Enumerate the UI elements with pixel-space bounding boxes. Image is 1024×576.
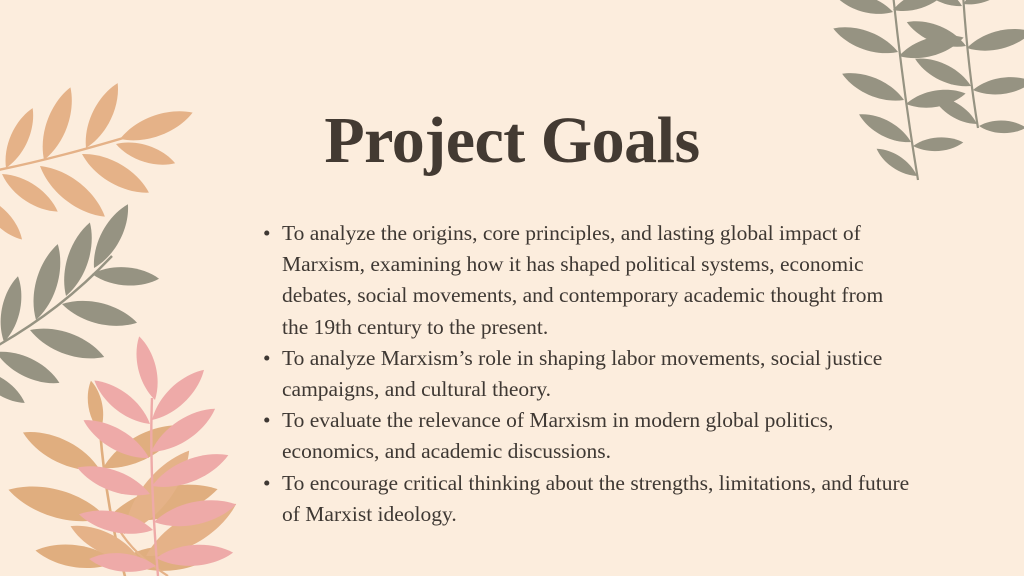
list-item: • To analyze Marxism’s role in shaping l…: [258, 343, 910, 405]
list-item-text: To analyze Marxism’s role in shaping lab…: [282, 346, 882, 401]
page-title: Project Goals: [0, 103, 1024, 179]
list-item: • To encourage critical thinking about t…: [258, 468, 910, 530]
slide-canvas: Project Goals • To analyze the origins, …: [0, 0, 1024, 576]
list-item: • To analyze the origins, core principle…: [258, 218, 910, 343]
list-item-text: To encourage critical thinking about the…: [282, 471, 909, 526]
list-item-text: To evaluate the relevance of Marxism in …: [282, 408, 833, 463]
slide-content: Project Goals • To analyze the origins, …: [0, 0, 1024, 576]
list-item-text: To analyze the origins, core principles,…: [282, 221, 883, 339]
list-item: • To evaluate the relevance of Marxism i…: [258, 405, 910, 467]
bullet-marker-icon: •: [263, 405, 271, 436]
bullet-marker-icon: •: [263, 218, 271, 249]
goals-bullet-list: • To analyze the origins, core principle…: [258, 218, 910, 530]
bullet-marker-icon: •: [263, 468, 271, 499]
bullet-marker-icon: •: [263, 343, 271, 374]
